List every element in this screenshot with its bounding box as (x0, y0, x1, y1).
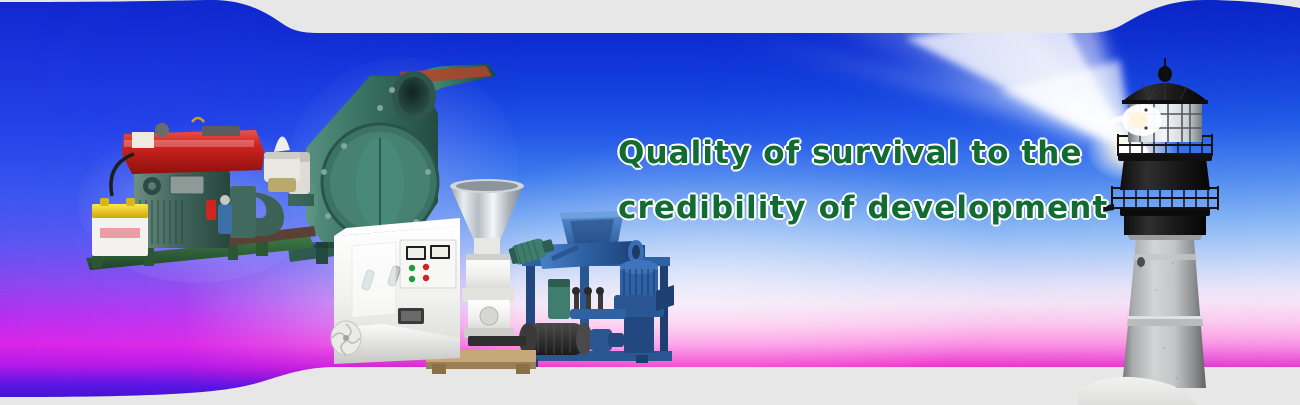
lighthouse (1078, 58, 1298, 405)
promo-banner: Quality of survival to the credibility o… (0, 0, 1300, 405)
pellet-mill (328, 178, 543, 376)
diesel-engine (78, 108, 318, 288)
slogan-line-1: Quality of survival to the (618, 126, 1088, 181)
slogan-block: Quality of survival to the credibility o… (618, 126, 1088, 236)
slogan-line-2: credibility of development (618, 181, 1088, 236)
